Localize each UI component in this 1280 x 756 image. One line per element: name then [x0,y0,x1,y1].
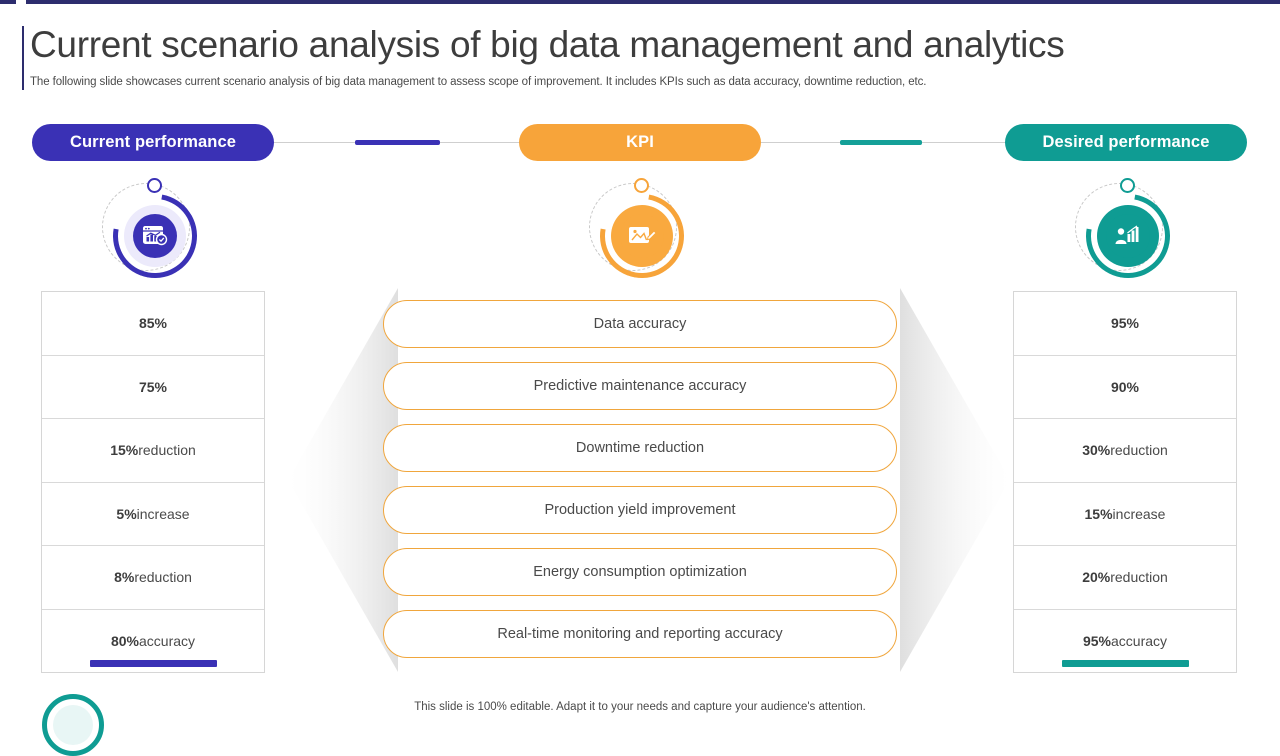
header-pill-desired-label: Desired performance [1043,133,1210,152]
connector-segment-left [355,140,440,145]
ring-dot-marker [147,178,162,193]
current-suffix: increase [137,506,190,522]
header-pill-current-label: Current performance [70,133,236,152]
table-row: 20% reduction [1014,546,1236,610]
desired-value: 95% [1111,315,1139,331]
table-row: 30% reduction [1014,419,1236,483]
badge-inner-circle [124,205,186,267]
current-value: 80% [111,633,139,649]
desired-table-underline [1062,660,1189,667]
table-row: 95% [1014,292,1236,356]
connector-segment-right [840,140,922,145]
current-suffix: reduction [134,569,192,585]
current-suffix: reduction [138,442,196,458]
current-value: 15% [110,442,138,458]
image-edit-icon [620,214,664,258]
ring-dot-marker [634,178,649,193]
desired-value: 90% [1111,379,1139,395]
desired-value: 20% [1082,569,1110,585]
current-performance-table: 85% 75% 15% reduction 5% increase 8% red… [41,291,265,673]
chevron-shape-right [900,288,1010,672]
desired-value: 15% [1085,506,1113,522]
chevron-shape-left [288,288,398,672]
kpi-item[interactable]: Downtime reduction [383,424,897,472]
desired-value: 30% [1082,442,1110,458]
desired-value: 95% [1083,633,1111,649]
table-row: 15% increase [1014,483,1236,547]
current-table-underline [90,660,217,667]
header-pill-desired-performance[interactable]: Desired performance [1005,124,1247,161]
page-subtitle: The following slide showcases current sc… [30,76,1210,88]
current-value: 5% [116,506,136,522]
badge-current-performance [102,183,204,281]
table-row: 8% reduction [42,546,264,610]
footer-note: This slide is 100% editable. Adapt it to… [0,701,1280,713]
header-pill-kpi[interactable]: KPI [519,124,761,161]
table-row: 85% [42,292,264,356]
desired-suffix: accuracy [1111,633,1167,649]
badge-desired-performance [1075,183,1177,281]
page-title: Current scenario analysis of big data ma… [30,24,1250,66]
table-row: 5% increase [42,483,264,547]
header-pill-kpi-label: KPI [626,133,654,152]
top-border-notch [16,0,26,6]
current-suffix: accuracy [139,633,195,649]
current-value: 8% [114,569,134,585]
kpi-item[interactable]: Predictive maintenance accuracy [383,362,897,410]
person-growth-icon [1106,214,1150,258]
ring-dot-marker [1120,178,1135,193]
table-row: 15% reduction [42,419,264,483]
badge-inner-circle [1097,205,1159,267]
current-value: 75% [139,379,167,395]
chart-window-icon [133,214,177,258]
desired-suffix: reduction [1110,569,1168,585]
header-pill-current-performance[interactable]: Current performance [32,124,274,161]
kpi-list: Data accuracy Predictive maintenance acc… [383,300,897,672]
badge-inner-circle [611,205,673,267]
kpi-item[interactable]: Production yield improvement [383,486,897,534]
desired-suffix: reduction [1110,442,1168,458]
kpi-item[interactable]: Real-time monitoring and reporting accur… [383,610,897,658]
desired-suffix: increase [1113,506,1166,522]
desired-performance-table: 95% 90% 30% reduction 15% increase 20% r… [1013,291,1237,673]
top-border-rule [0,0,1280,4]
kpi-item[interactable]: Energy consumption optimization [383,548,897,596]
kpi-item[interactable]: Data accuracy [383,300,897,348]
table-row: 90% [1014,356,1236,420]
current-value: 85% [139,315,167,331]
title-accent-rule [22,26,24,90]
table-row: 75% [42,356,264,420]
badge-kpi [589,183,691,281]
